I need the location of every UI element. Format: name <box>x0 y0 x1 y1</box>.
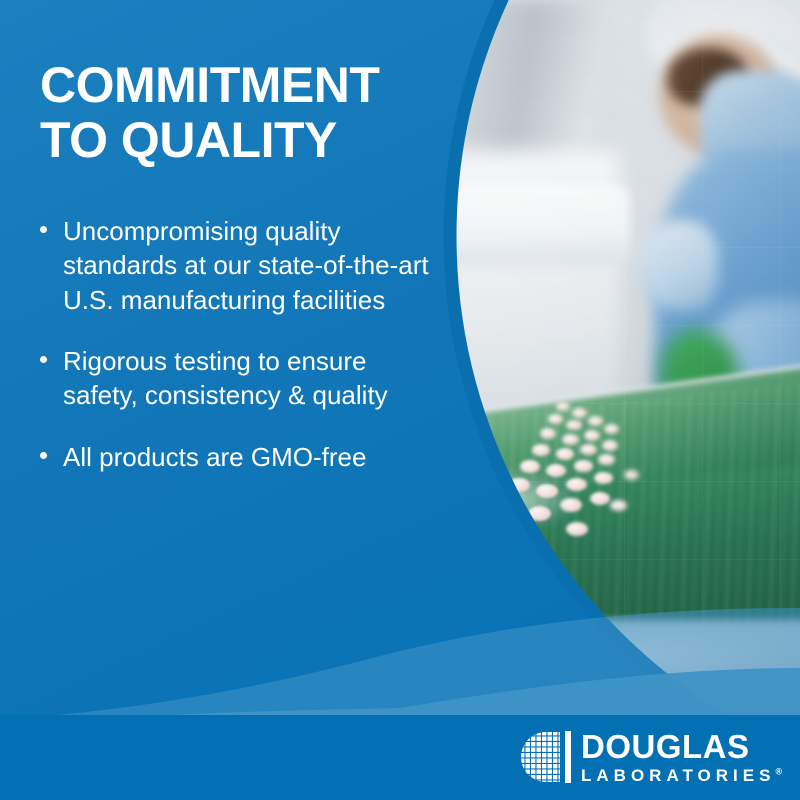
tablet <box>585 652 609 676</box>
commitment-to-quality-graphic: COMMITMENTTO QUALITY Uncompromising qual… <box>0 0 800 800</box>
registered-trademark-icon: ® <box>775 766 782 776</box>
bullet-dot-icon <box>40 452 47 459</box>
list-item: All products are GMO-free <box>40 440 440 474</box>
douglas-laboratories-logo: DOUGLAS LABORATORIES® <box>520 730 782 784</box>
list-item-text: All products are GMO-free <box>63 442 366 472</box>
list-item: Rigorous testing to ensure safety, consi… <box>40 344 440 413</box>
grid-disc-icon <box>520 731 572 783</box>
list-item-text: Rigorous testing to ensure safety, consi… <box>63 346 388 410</box>
logo-name-secondary: LABORATORIES® <box>581 767 782 784</box>
bullet-dot-icon <box>40 226 47 233</box>
benefits-list: Uncompromising quality standards at our … <box>40 214 440 474</box>
logo-name-primary: DOUGLAS <box>581 730 782 763</box>
tablet <box>504 528 528 543</box>
tablet <box>548 602 574 628</box>
page-title: COMMITMENTTO QUALITY <box>40 58 440 167</box>
headline-line-2: TO QUALITY <box>40 112 337 168</box>
list-item: Uncompromising quality standards at our … <box>40 214 440 317</box>
logo-wordmark: DOUGLAS LABORATORIES® <box>581 730 782 784</box>
bullet-dot-icon <box>40 356 47 363</box>
headline-line-1: COMMITMENT <box>40 57 379 113</box>
tablet <box>516 604 542 630</box>
tablet <box>566 630 588 652</box>
logo-name-secondary-text: LABORATORIES <box>581 766 775 785</box>
list-item-text: Uncompromising quality standards at our … <box>63 216 429 315</box>
